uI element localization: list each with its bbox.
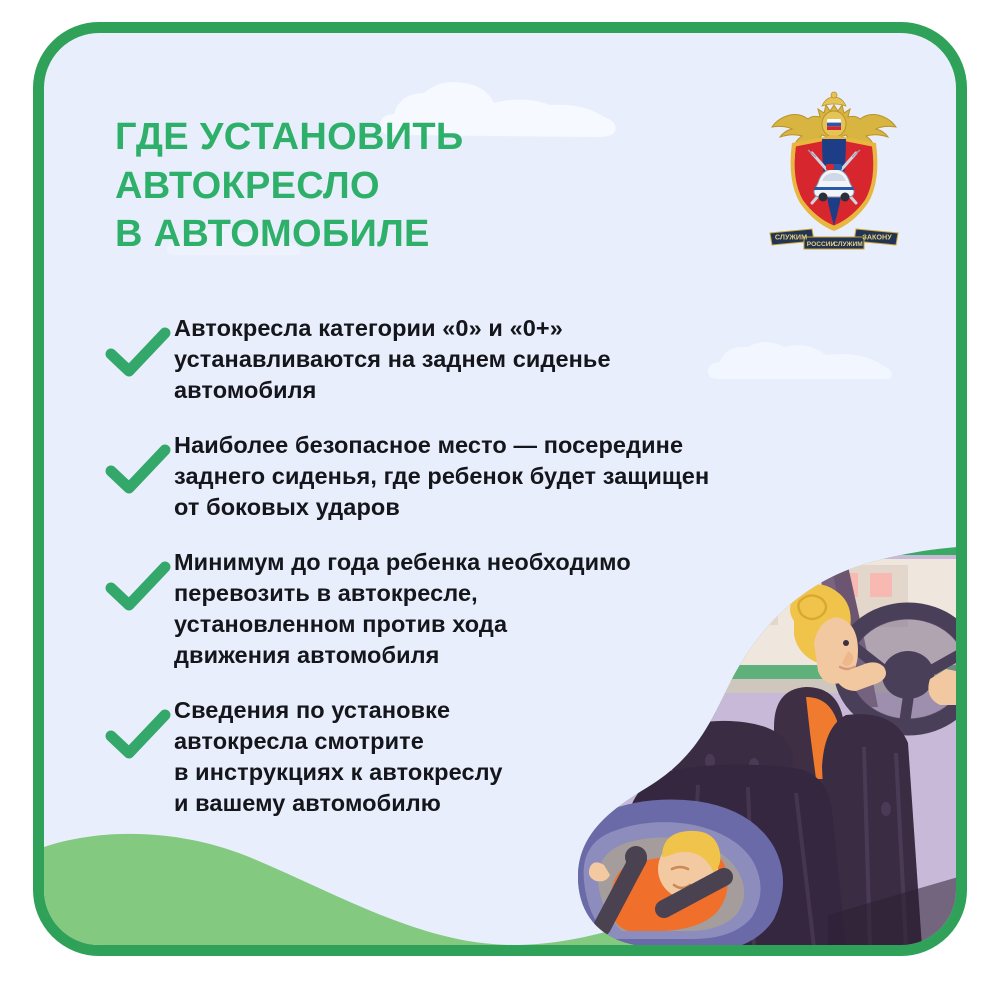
page-title-line-2: АВТОКРЕСЛО <box>115 162 585 211</box>
checkmark-icon <box>102 440 174 496</box>
emblem-banner: СЛУЖИМ ЗАКОНУ РОССИИ СЛУЖИМ <box>770 229 898 249</box>
list-item: Наиболее безопасное место — посередине з… <box>102 428 842 523</box>
checkmark-icon <box>102 323 174 379</box>
poster-canvas: ГДЕ УСТАНОВИТЬ АВТОКРЕСЛО В АВТОМОБИЛЕ <box>44 33 956 945</box>
checkmark-icon <box>102 705 174 761</box>
car-interior-illustration <box>578 547 956 945</box>
emblem-banner-center-bottom: СЛУЖИМ <box>833 241 863 248</box>
list-item-text: Автокресла категории «0» и «0+» устанавл… <box>174 311 842 406</box>
page-title-line-3: В АВТОМОБИЛЕ <box>115 210 585 259</box>
poster-frame: ГДЕ УСТАНОВИТЬ АВТОКРЕСЛО В АВТОМОБИЛЕ <box>33 22 967 956</box>
emblem-banner-right: ЗАКОНУ <box>862 233 892 242</box>
gibdd-emblem: СЛУЖИМ ЗАКОНУ РОССИИ СЛУЖИМ <box>764 91 904 256</box>
list-item-line: автомобиля <box>174 375 842 406</box>
list-item-line: устанавливаются на заднем сиденье <box>174 344 842 375</box>
infographic-poster: ГДЕ УСТАНОВИТЬ АВТОКРЕСЛО В АВТОМОБИЛЕ <box>0 0 1000 1000</box>
list-item-line: Автокресла категории «0» и «0+» <box>174 313 842 344</box>
list-item-line: Наиболее безопасное место — посередине <box>174 430 842 461</box>
page-title: ГДЕ УСТАНОВИТЬ АВТОКРЕСЛО В АВТОМОБИЛЕ <box>115 113 585 259</box>
checkmark-icon <box>102 557 174 613</box>
page-title-line-1: ГДЕ УСТАНОВИТЬ <box>115 113 585 162</box>
illustration-content <box>578 555 956 945</box>
list-item-line: заднего сиденья, где ребенок будет защищ… <box>174 461 842 492</box>
list-item: Автокресла категории «0» и «0+» устанавл… <box>102 311 842 406</box>
list-item-line: от боковых ударов <box>174 492 842 523</box>
emblem-banner-left: СЛУЖИМ <box>775 233 807 242</box>
list-item-text: Наиболее безопасное место — посередине з… <box>174 428 842 523</box>
emblem-banner-center-top: РОССИИ <box>807 241 836 248</box>
